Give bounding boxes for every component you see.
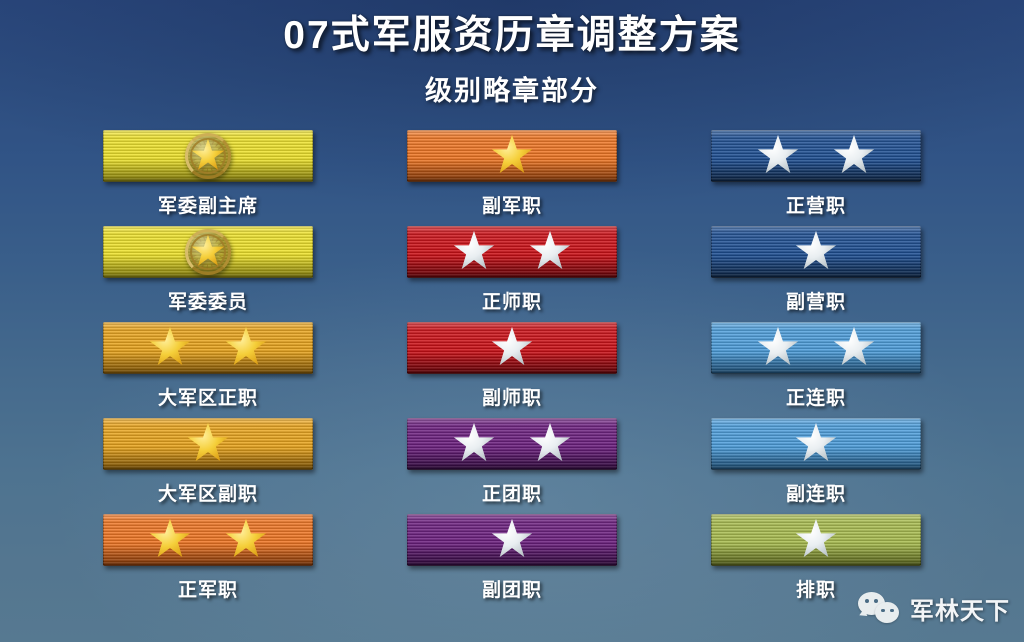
rank-ribbon-cell: 副师职 <box>360 322 664 418</box>
rank-ribbon[interactable] <box>407 130 617 182</box>
silver-star-icon <box>453 231 495 273</box>
silver-star-icon <box>529 231 571 273</box>
rank-ribbon-cell: 军委副主席 <box>56 130 360 226</box>
ribbon-devices <box>711 322 921 374</box>
gold-star-icon <box>187 423 229 465</box>
watermark-label: 军林天下 <box>910 591 1010 626</box>
ribbon-devices <box>407 130 617 182</box>
rank-label: 副师职 <box>482 383 542 410</box>
rank-ribbon[interactable] <box>407 322 617 374</box>
rank-label: 大军区正职 <box>158 383 258 410</box>
ribbon-devices <box>407 514 617 566</box>
silver-star-icon <box>529 423 571 465</box>
rank-ribbon-grid: 军委副主席副军职正营职军委委员正师职副营职大军区正职副师职正连职大军区副职正团职… <box>0 130 1024 610</box>
silver-star-icon <box>795 231 837 273</box>
rank-ribbon[interactable] <box>711 514 921 566</box>
star-wreath-emblem-icon <box>183 131 233 181</box>
rank-ribbon-cell: 副营职 <box>664 226 968 322</box>
silver-star-icon <box>795 423 837 465</box>
rank-label: 正师职 <box>482 287 542 314</box>
ribbon-devices <box>407 226 617 278</box>
gold-star-icon <box>225 327 267 369</box>
ribbon-devices <box>103 322 313 374</box>
rank-ribbon-cell: 正师职 <box>360 226 664 322</box>
rank-label: 正军职 <box>178 575 238 602</box>
gold-star-icon <box>149 327 191 369</box>
ribbon-devices <box>711 226 921 278</box>
rank-ribbon[interactable] <box>711 130 921 182</box>
rank-ribbon-cell: 副团职 <box>360 514 664 610</box>
rank-ribbon[interactable] <box>711 226 921 278</box>
page-subtitle: 级别略章部分 <box>0 69 1024 108</box>
rank-label: 大军区副职 <box>158 479 258 506</box>
star-wreath-emblem-icon <box>183 227 233 277</box>
silver-star-icon <box>795 519 837 561</box>
rank-label: 正团职 <box>482 479 542 506</box>
silver-star-icon <box>491 519 533 561</box>
rank-ribbon[interactable] <box>103 130 313 182</box>
rank-ribbon[interactable] <box>103 322 313 374</box>
rank-ribbon[interactable] <box>711 322 921 374</box>
rank-ribbon[interactable] <box>711 418 921 470</box>
rank-ribbon[interactable] <box>103 418 313 470</box>
rank-label: 副团职 <box>482 575 542 602</box>
rank-ribbon[interactable] <box>103 514 313 566</box>
gold-star-icon <box>225 519 267 561</box>
poster-header: 07式军服资历章调整方案 级别略章部分 <box>0 0 1024 108</box>
ribbon-devices <box>103 514 313 566</box>
ribbon-devices <box>711 418 921 470</box>
ribbon-devices <box>103 226 313 278</box>
watermark: 军林天下 <box>858 591 1010 626</box>
wechat-icon <box>858 592 904 626</box>
poster-canvas: 07式军服资历章调整方案 级别略章部分 军委副主席副军职正营职军委委员正师职副营… <box>0 0 1024 642</box>
rank-ribbon-cell: 大军区正职 <box>56 322 360 418</box>
rank-label: 排职 <box>796 575 836 602</box>
rank-ribbon-cell: 大军区副职 <box>56 418 360 514</box>
rank-label: 副军职 <box>482 191 542 218</box>
ribbon-devices <box>103 130 313 182</box>
rank-ribbon[interactable] <box>407 418 617 470</box>
rank-label: 副营职 <box>786 287 846 314</box>
rank-label: 正连职 <box>786 383 846 410</box>
rank-ribbon-cell: 正营职 <box>664 130 968 226</box>
rank-ribbon-cell: 正连职 <box>664 322 968 418</box>
rank-ribbon-cell: 军委委员 <box>56 226 360 322</box>
rank-ribbon[interactable] <box>103 226 313 278</box>
rank-ribbon[interactable] <box>407 226 617 278</box>
ribbon-devices <box>407 418 617 470</box>
rank-label: 正营职 <box>786 191 846 218</box>
ribbon-devices <box>711 514 921 566</box>
rank-ribbon-cell: 正团职 <box>360 418 664 514</box>
silver-star-icon <box>833 327 875 369</box>
gold-star-icon <box>149 519 191 561</box>
rank-label: 军委委员 <box>168 287 248 314</box>
rank-ribbon-cell: 正军职 <box>56 514 360 610</box>
silver-star-icon <box>833 135 875 177</box>
ribbon-devices <box>407 322 617 374</box>
ribbon-devices <box>711 130 921 182</box>
rank-label: 军委副主席 <box>158 191 258 218</box>
silver-star-icon <box>491 327 533 369</box>
page-title: 07式军服资历章调整方案 <box>0 14 1024 59</box>
ribbon-devices <box>103 418 313 470</box>
rank-ribbon[interactable] <box>407 514 617 566</box>
silver-star-icon <box>453 423 495 465</box>
silver-star-icon <box>757 135 799 177</box>
rank-ribbon-cell: 副军职 <box>360 130 664 226</box>
silver-star-icon <box>757 327 799 369</box>
gold-star-icon <box>491 135 533 177</box>
rank-ribbon-cell: 副连职 <box>664 418 968 514</box>
rank-label: 副连职 <box>786 479 846 506</box>
